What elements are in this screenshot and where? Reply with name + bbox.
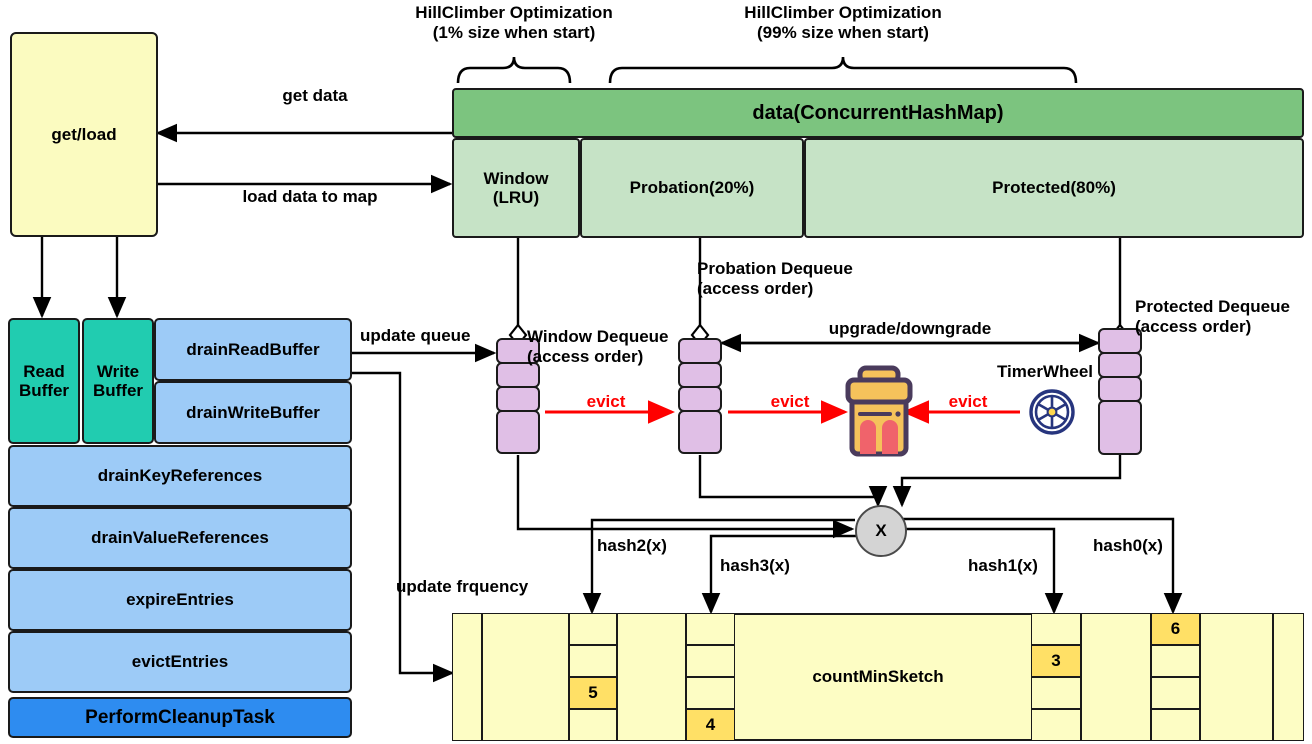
merge-node-label: X	[875, 521, 886, 541]
hash-label-0: hash0(x)	[1093, 536, 1213, 556]
hash-label-2: hash2(x)	[597, 536, 717, 556]
hash-merge-node[interactable]: X	[855, 505, 907, 557]
timer-wheel-icon	[1031, 391, 1073, 433]
hash-label-1: hash1(x)	[968, 556, 1088, 576]
trash-icon	[848, 368, 910, 454]
hash-label-3: hash3(x)	[720, 556, 840, 576]
timer-wheel-label: TimerWheel	[975, 362, 1115, 382]
trash-icon-layer	[0, 0, 1312, 744]
diagram-canvas: get/load Read Buffer Write Buffer drainR…	[0, 0, 1312, 744]
